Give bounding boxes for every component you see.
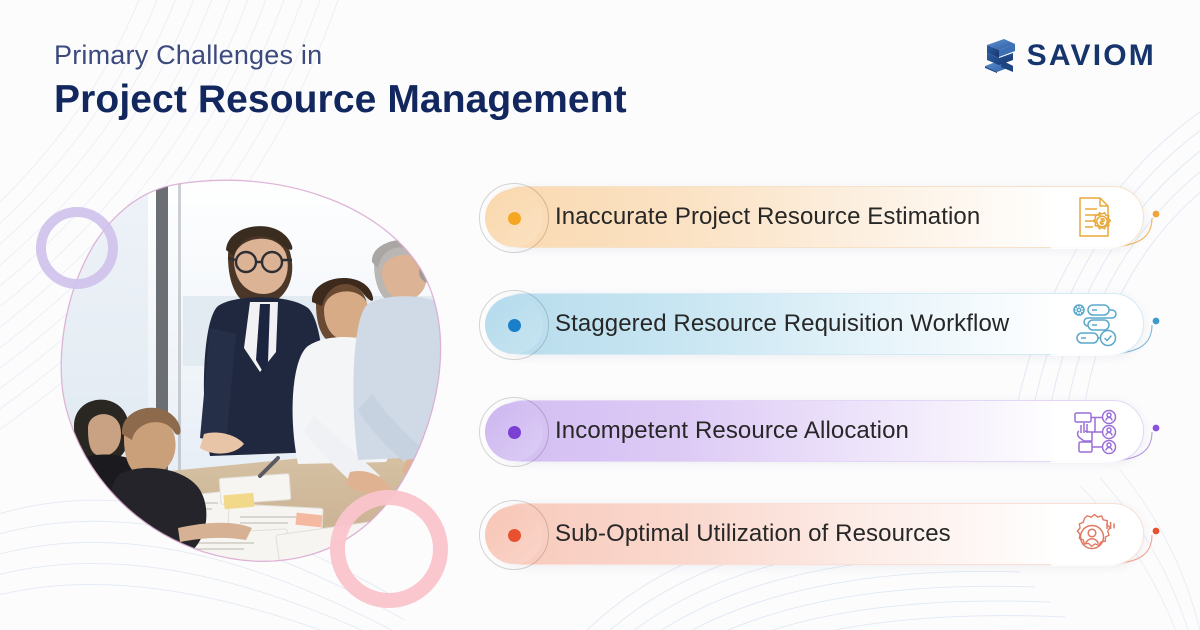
challenge-pill-4[interactable]: Sub-Optimal Utilization of Resources [492,503,1144,565]
challenge-pill-2[interactable]: Staggered Resource Requisition Workflow [492,293,1144,355]
brand-name: SAVIOM [1027,41,1156,71]
infographic-canvas: Primary Challenges in Project Resource M… [0,0,1200,630]
allocation-hierarchy-hand-icon [1071,409,1119,455]
page-title: Project Resource Management [54,77,627,124]
challenge-label-4: Sub-Optimal Utilization of Resources [555,520,951,548]
challenge-pill-3[interactable]: Incompetent Resource Allocation [492,400,1144,462]
document-cost-gear-icon [1072,194,1118,242]
challenge-row-3[interactable]: Incompetent Resource Allocation [484,386,1184,486]
challenge-icon-2-wrap [1051,294,1139,356]
challenge-label-1: Inaccurate Project Resource Estimation [555,203,980,231]
saviom-s-logo-icon [982,36,1018,76]
decor-ring-pink [330,490,448,608]
brand-logo[interactable]: SAVIOM [982,36,1156,76]
status-dot-2 [508,319,521,332]
bulb-1 [485,189,543,247]
challenge-label-3: Incompetent Resource Allocation [555,417,909,445]
status-dot-3 [508,426,521,439]
bulb-4 [485,506,543,564]
page-eyebrow: Primary Challenges in [54,40,627,71]
challenge-icon-3-wrap [1051,401,1139,463]
gear-person-utilization-icon [1071,511,1119,559]
status-dot-1 [508,212,521,225]
status-dot-4 [508,529,521,542]
challenge-icon-1-wrap [1051,187,1139,249]
challenges-list: Inaccurate Project Resource Estimation [484,172,1184,592]
challenge-row-1[interactable]: Inaccurate Project Resource Estimation [484,172,1184,272]
workflow-checklist-icon [1071,302,1119,348]
challenge-row-2[interactable]: Staggered Resource Requisition Workflow [484,279,1184,379]
decor-ring-purple [36,207,118,289]
bulb-2 [485,296,543,354]
challenge-label-2: Staggered Resource Requisition Workflow [555,310,1009,338]
page-header: Primary Challenges in Project Resource M… [54,40,627,124]
challenge-row-4[interactable]: Sub-Optimal Utilization of Resources [484,489,1184,589]
challenge-pill-1[interactable]: Inaccurate Project Resource Estimation [492,186,1144,248]
challenge-icon-4-wrap [1051,504,1139,566]
bulb-3 [485,403,543,461]
